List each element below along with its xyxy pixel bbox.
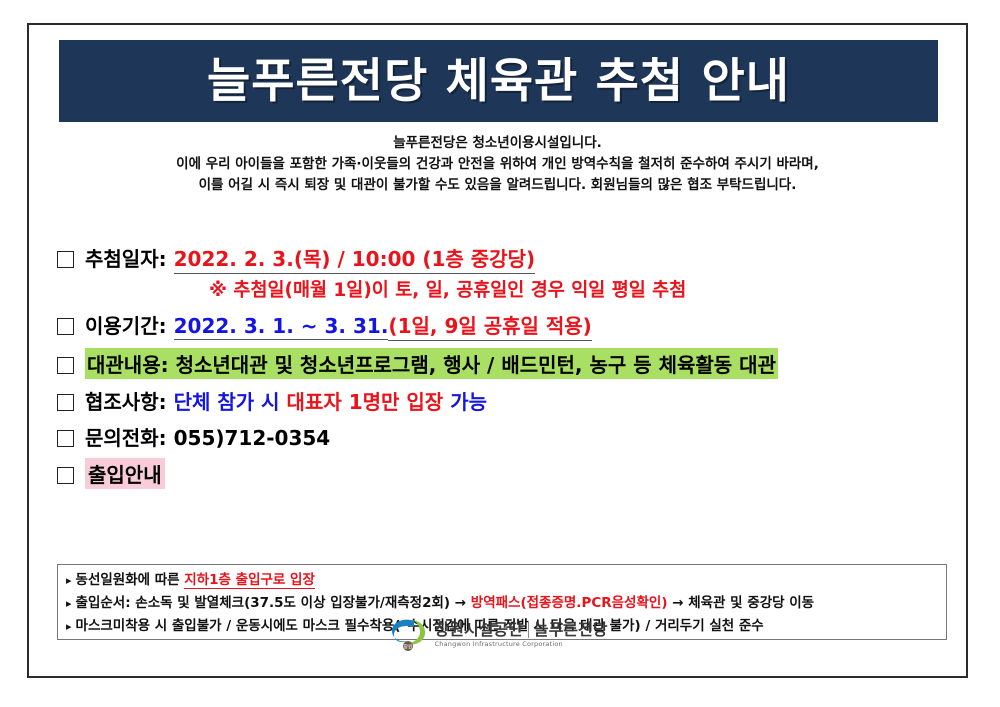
cooperation-value-part1: 단체 참가 시 — [174, 386, 280, 415]
poster-frame: 늘푸른전당 체육관 추첨 안내 늘푸른전당은 청소년이용시설입니다. 이에 우리… — [27, 23, 968, 678]
logo-text-block: 창원시설공단 늘푸른전당 Changwon Infrastructure Cor… — [435, 622, 608, 648]
triangle-bullet-icon: ▸ — [66, 597, 72, 610]
access-label: 출입안내 — [85, 458, 165, 489]
notice-bullet-2: ▸출입순서: 손소독 및 발열체크(37.5도 이상 입장불가/재측정2회) →… — [66, 592, 938, 615]
checkbox-icon[interactable] — [57, 394, 74, 411]
notice-bullet-1: ▸동선일원화에 따른 지하1층 출입구로 입장 — [66, 569, 938, 592]
draw-date-note-text: ※ 추첨일(매월 1일)이 토, 일, 공휴일인 경우 익일 평일 추첨 — [209, 280, 686, 301]
logo-org-name-en: Changwon Infrastructure Corporation — [435, 641, 608, 648]
logo-venue-name: 늘푸른전당 — [534, 622, 608, 638]
period-label: 이용기간: — [85, 310, 167, 339]
cooperation-label: 협조사항: — [85, 386, 167, 415]
title-banner: 늘푸른전당 체육관 추첨 안내 — [59, 40, 938, 122]
list-item-period: 이용기간: 2022. 3. 1. ~ 3. 31.(1일, 9일 공휴일 적용… — [57, 310, 947, 341]
checkbox-icon[interactable] — [57, 318, 74, 335]
intro-line-2: 이에 우리 아이들을 포함한 가족·이웃들의 건강과 안전을 위하여 개인 방역… — [41, 154, 954, 175]
triangle-bullet-icon: ▸ — [66, 574, 72, 587]
checkbox-icon[interactable] — [57, 357, 74, 374]
period-value-date: 2022. 3. 1. ~ 3. 31. — [174, 314, 389, 340]
checkbox-icon[interactable] — [57, 251, 74, 268]
footer-logo: 창원 창원시설공단 늘푸른전당 Changwon Infrastructure … — [29, 617, 966, 653]
rental-label: 대관내용: — [87, 353, 169, 377]
poster-inner: 늘푸른전당 체육관 추첨 안내 늘푸른전당은 청소년이용시설입니다. 이에 우리… — [29, 25, 966, 676]
cooperation-value-part2: 대표자 1명만 입장 — [287, 386, 444, 415]
notice-item-list: 추첨일자: 2022. 2. 3.(목) / 10:00 (1층 중강당) ※ … — [57, 243, 947, 493]
checkbox-icon[interactable] — [57, 430, 74, 447]
notice-bullet-1-text-a: 동선일원화에 따른 — [76, 572, 180, 588]
list-item-draw-date: 추첨일자: 2022. 2. 3.(목) / 10:00 (1층 중강당) — [57, 243, 947, 274]
draw-date-value: 2022. 2. 3.(목) / 10:00 (1층 중강당) — [174, 243, 536, 274]
list-item-access: 출입안내 — [57, 458, 947, 489]
period-value-note: (1일, 9일 공휴일 적용) — [388, 310, 591, 341]
logo-wrapper: 창원 창원시설공단 늘푸른전당 Changwon Infrastructure … — [388, 617, 608, 653]
notice-bullet-2-text-a: 출입순서: 손소독 및 발열체크(37.5도 이상 입장불가/재측정2회) → — [76, 595, 467, 611]
intro-paragraph: 늘푸른전당은 청소년이용시설입니다. 이에 우리 아이들을 포함한 가족·이웃들… — [41, 133, 954, 196]
changwon-swoosh-logo-icon: 창원 — [388, 617, 428, 653]
page-title: 늘푸른전당 체육관 추첨 안내 — [207, 58, 790, 105]
notice-bullet-1-text-red: 지하1층 출입구로 입장 — [184, 572, 315, 589]
notice-bullet-2-text-b: → 체육관 및 중강당 이동 — [672, 595, 814, 611]
telephone-value: 055)712-0354 — [174, 426, 331, 450]
logo-divider — [528, 622, 529, 638]
list-item-cooperation: 협조사항: 단체 참가 시 대표자 1명만 입장 가능 — [57, 386, 947, 415]
svg-text:창원: 창원 — [403, 644, 413, 651]
intro-line-3: 이를 어길 시 즉시 퇴장 및 대관이 불가할 수도 있음을 알려드립니다. 회… — [41, 175, 954, 196]
rental-highlight: 대관내용:청소년대관 및 청소년프로그램, 행사 / 배드민턴, 농구 등 체육… — [85, 348, 778, 379]
checkbox-icon[interactable] — [57, 467, 74, 484]
draw-date-label: 추첨일자: — [85, 243, 167, 272]
list-item-telephone: 문의전화: 055)712-0354 — [57, 422, 947, 451]
logo-org-name: 창원시설공단 — [435, 622, 523, 638]
telephone-label: 문의전화: — [85, 422, 167, 451]
list-item-rental: 대관내용:청소년대관 및 청소년프로그램, 행사 / 배드민턴, 농구 등 체육… — [57, 348, 947, 379]
logo-title-line: 창원시설공단 늘푸른전당 — [435, 622, 608, 638]
cooperation-value-part3: 가능 — [450, 386, 487, 415]
rental-value: 청소년대관 및 청소년프로그램, 행사 / 배드민턴, 농구 등 체육활동 대관 — [176, 353, 776, 377]
draw-date-note: ※ 추첨일(매월 1일)이 토, 일, 공휴일인 경우 익일 평일 추첨 — [57, 276, 947, 302]
intro-line-1: 늘푸른전당은 청소년이용시설입니다. — [41, 133, 954, 154]
notice-bullet-2-text-red: 방역패스(접종증명.PCR음성확인) — [471, 595, 668, 611]
